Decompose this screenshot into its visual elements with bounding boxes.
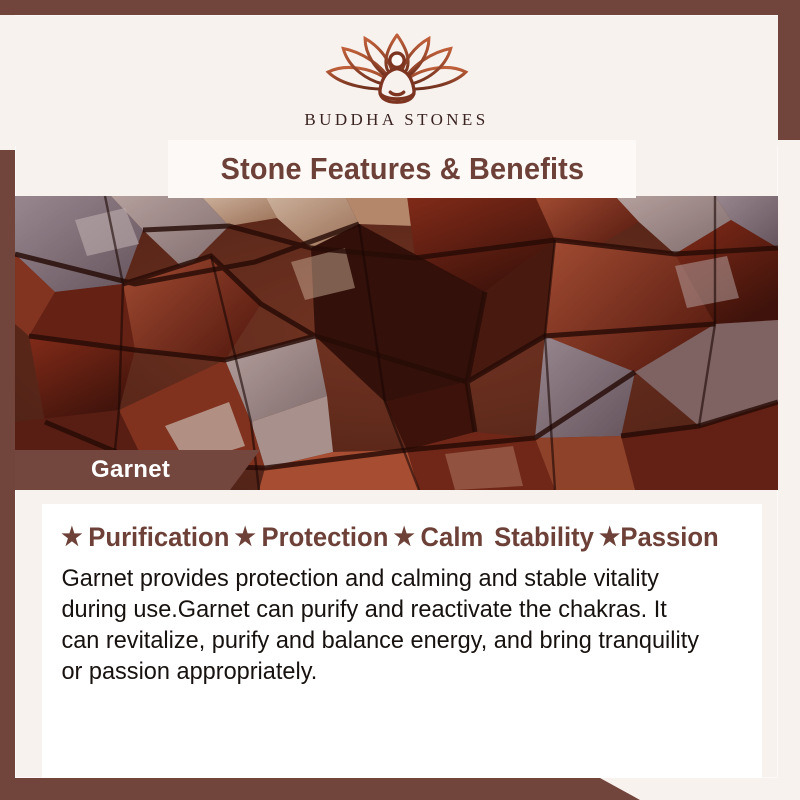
star-icon: ★ xyxy=(599,525,620,550)
benefit-item-calm: ★ Calm xyxy=(394,522,484,553)
benefit-label: Stability xyxy=(494,522,594,553)
stone-name-ribbon: Garnet xyxy=(15,450,260,490)
bottom-frame-bar xyxy=(0,778,640,800)
stone-name: Garnet xyxy=(15,456,170,484)
stone-description: Garnet provides protection and calming a… xyxy=(48,564,726,688)
garnet-crystal-cluster-photo xyxy=(15,196,778,490)
benefit-item-protection: ★ Protection xyxy=(235,522,389,553)
benefit-label: Protection xyxy=(262,522,389,553)
benefit-label: Calm xyxy=(421,522,484,553)
benefits-list: ★ Purification ★ Protection ★ Calm Stabi… xyxy=(48,522,719,553)
page-title: Stone Features & Benefits xyxy=(220,151,584,187)
brand-header: BUDDHA STONES xyxy=(15,16,778,146)
benefit-label: Passion xyxy=(620,522,718,553)
star-icon: ★ xyxy=(235,525,256,550)
top-right-frame-bar xyxy=(778,0,800,140)
stone-benefits-poster: BUDDHA STONES Stone Features & Benefits xyxy=(0,0,800,800)
star-icon: ★ xyxy=(394,525,415,550)
benefit-item-passion: ★ Passion xyxy=(599,522,719,553)
star-icon: ★ xyxy=(61,525,82,550)
lotus-meditation-icon xyxy=(313,30,481,108)
benefits-content-card: ★ Purification ★ Protection ★ Calm Stabi… xyxy=(42,504,762,778)
section-title-plate: Stone Features & Benefits xyxy=(168,140,636,198)
left-frame-bar xyxy=(0,150,15,800)
benefit-item-purification: ★ Purification xyxy=(61,522,229,553)
top-frame-bar xyxy=(0,0,800,15)
benefit-item-stability: Stability xyxy=(488,522,593,553)
brand-name: BUDDHA STONES xyxy=(304,110,488,130)
benefit-label: Purification xyxy=(88,522,229,553)
